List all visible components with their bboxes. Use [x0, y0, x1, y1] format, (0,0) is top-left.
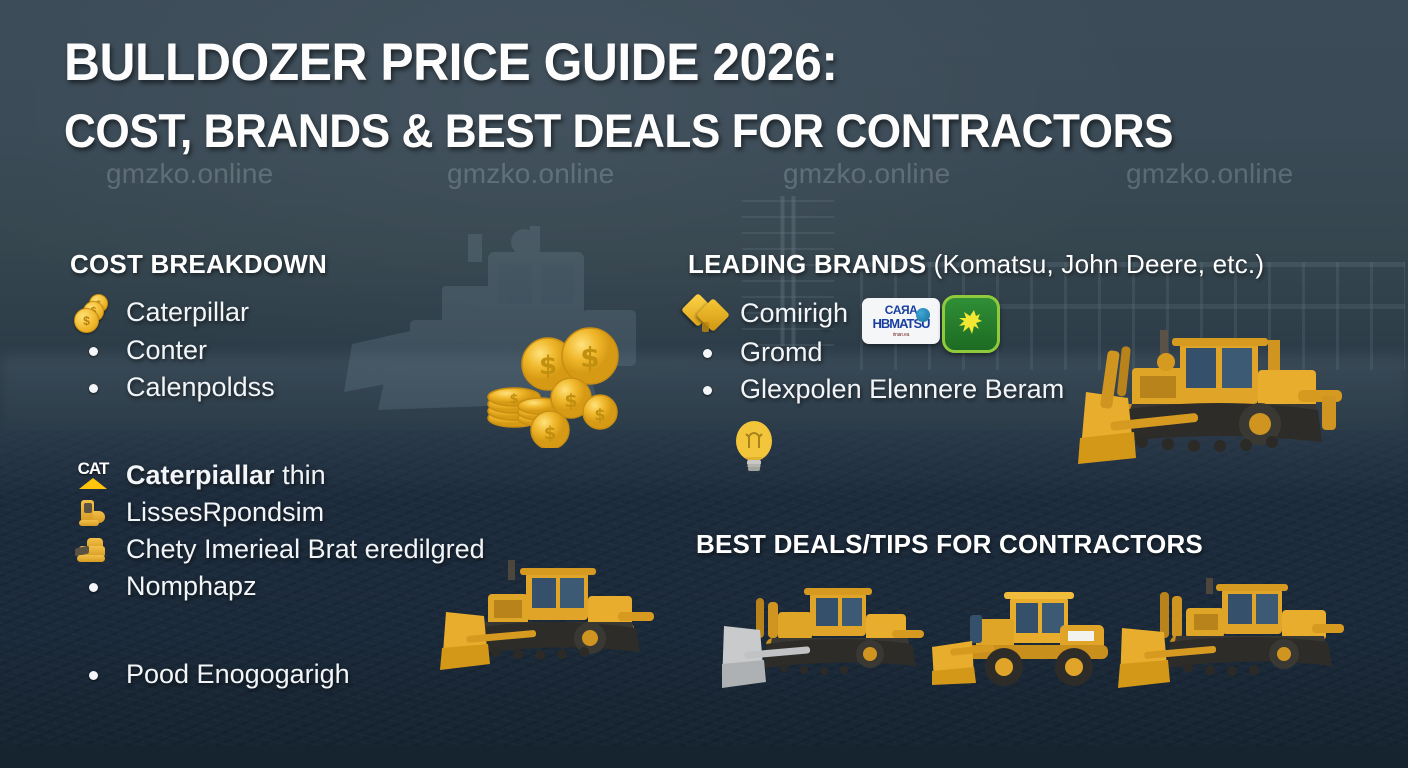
bullet-icon — [66, 671, 120, 680]
komatsu-logo: CAЯA HBMATSU rinan.ea — [862, 298, 940, 344]
background-bottom-bar — [0, 746, 1408, 768]
title-line-1: BULLDOZER PRICE GUIDE 2026: — [64, 36, 1192, 89]
list-item: Pood Enogogarigh — [66, 657, 485, 693]
watermark: gmzko.online — [783, 158, 950, 190]
john-deere-logo — [942, 295, 1000, 353]
list-item-label: Comirigh — [740, 298, 848, 329]
machine-icon — [66, 498, 120, 528]
heading-cost-breakdown: COST BREAKDOWN — [70, 249, 327, 280]
list-item-label: Chety Imerieal Brat eredilgred — [126, 534, 485, 565]
bullet-icon — [680, 349, 734, 358]
list-cost-breakdown: $ $ $ Caterpillar Conter Calenpoldss — [66, 294, 275, 407]
list-item-label-bold: Caterpiallar — [126, 460, 275, 490]
list-item-label: Conter — [126, 335, 207, 366]
heading-best-deals: BEST DEALS/TIPS FOR CONTRACTORS — [696, 529, 1203, 560]
bullet-icon — [680, 386, 734, 395]
list-item-label: Gromd — [740, 337, 823, 368]
komatsu-logo-line-3: rinan.ea — [893, 332, 909, 338]
bulldozer-photo-silver-blade — [722, 578, 930, 690]
list-item: LissesRpondsim — [66, 495, 485, 531]
bullet-icon — [66, 384, 120, 393]
svg-text:$: $ — [509, 392, 518, 407]
list-item-label-rest: thin — [275, 460, 326, 490]
list-item-label: Calenpoldss — [126, 372, 275, 403]
watermark: gmzko.online — [447, 158, 614, 190]
svg-text:$: $ — [539, 351, 557, 381]
coin-pile-illustration: $ $ $ $ $ $ — [478, 326, 628, 448]
list-item: Chety Imerieal Brat eredilgred — [66, 532, 485, 568]
dozer-icon — [66, 535, 120, 565]
diamond-icon — [680, 294, 734, 334]
list-item-label: Caterpillar — [126, 297, 249, 328]
list-item: CAT Caterpiallar thin — [66, 458, 485, 494]
list-item: Glexpolen Elennere Beram — [680, 372, 1064, 408]
svg-text:$: $ — [594, 405, 605, 424]
list-item-label: Pood Enogogarigh — [126, 659, 350, 690]
svg-text:$: $ — [544, 423, 557, 444]
svg-text:$: $ — [564, 390, 577, 412]
watermark: gmzko.online — [1126, 158, 1293, 190]
bullet-icon — [66, 347, 120, 356]
bulldozer-photo-center — [440, 556, 662, 676]
list-caterpillar-block: CAT Caterpiallar thin LissesRpondsim — [66, 458, 485, 694]
list-item: Calenpoldss — [66, 370, 275, 406]
coins-icon: $ $ $ — [66, 294, 120, 332]
watermark: gmzko.online — [106, 158, 273, 190]
list-item: Conter — [66, 333, 275, 369]
list-item: Nomphapz — [66, 569, 485, 605]
list-item-label: Glexpolen Elennere Beram — [740, 374, 1064, 405]
infographic-canvas: gmzko.online gmzko.online gmzko.online g… — [0, 0, 1408, 768]
list-item-label: Caterpiallar thin — [126, 460, 326, 491]
page-title: BULLDOZER PRICE GUIDE 2026: COST, BRANDS… — [64, 36, 1264, 154]
cat-logo-icon: CAT — [66, 460, 120, 492]
bullet-icon — [66, 583, 120, 592]
svg-text:$: $ — [580, 341, 599, 374]
list-item-label: Nomphapz — [126, 571, 257, 602]
lightbulb-icon — [732, 418, 776, 476]
title-line-2: COST, BRANDS & BEST DEALS FOR CONTRACTOR… — [64, 107, 1192, 154]
bulldozer-photo-far-right — [1118, 576, 1346, 690]
heading-leading-brands-bold: LEADING BRANDS — [688, 249, 926, 279]
heading-leading-brands-sub: (Komatsu, John Deere, etc.) — [926, 249, 1264, 279]
list-item-label: LissesRpondsim — [126, 497, 324, 528]
heading-leading-brands: LEADING BRANDS (Komatsu, John Deere, etc… — [688, 249, 1264, 280]
list-item: $ $ $ Caterpillar — [66, 294, 275, 332]
bulldozer-photo-right — [1072, 318, 1362, 478]
wheel-loader-photo — [932, 585, 1114, 690]
